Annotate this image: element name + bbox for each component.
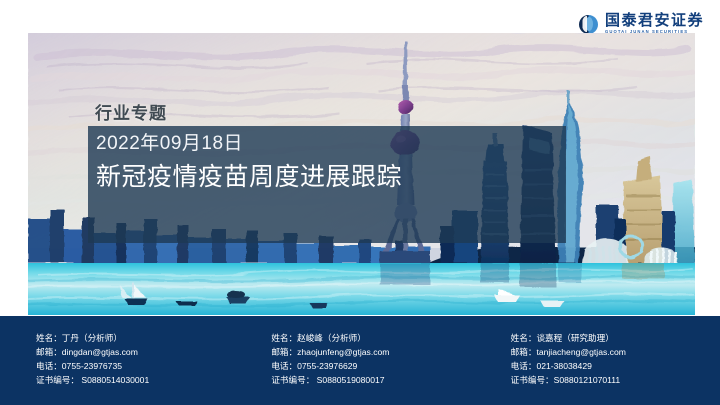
brand-name-cn: 国泰君安证券 bbox=[605, 13, 704, 28]
footer-bar: 姓名：丁丹（分析师） 邮箱：dingdan@gtjas.com 电话：0755-… bbox=[0, 316, 720, 405]
contact-phone: 电话：0755-23976629 bbox=[271, 360, 480, 374]
contact-block: 姓名：丁丹（分析师） 邮箱：dingdan@gtjas.com 电话：0755-… bbox=[0, 316, 245, 405]
contact-name: 姓名：谈嘉程（研究助理） bbox=[511, 332, 720, 346]
contact-email[interactable]: 邮箱：tanjiacheng@gtjas.com bbox=[511, 346, 720, 360]
contacts-row: 姓名：丁丹（分析师） 邮箱：dingdan@gtjas.com 电话：0755-… bbox=[0, 316, 720, 405]
contact-phone: 电话：0755-23976735 bbox=[36, 360, 245, 374]
cover-slide: 国泰君安证券 GUOTAI JUNAN SECURITIES bbox=[0, 0, 720, 405]
contact-license: 证书编号：S0880121070111 bbox=[511, 374, 720, 388]
title-block: 2022年09月18日 新冠疫情疫苗周度进展跟踪 bbox=[96, 132, 566, 193]
contact-email[interactable]: 邮箱：zhaojunfeng@gtjas.com bbox=[271, 346, 480, 360]
contact-name: 姓名：赵峻峰（分析师） bbox=[271, 332, 480, 346]
contact-phone: 电话：021-38038429 bbox=[511, 360, 720, 374]
document-title: 新冠疫情疫苗周度进展跟踪 bbox=[96, 161, 566, 194]
contact-name: 姓名：丁丹（分析师） bbox=[36, 332, 245, 346]
contact-license: 证书编号： S0880514030001 bbox=[36, 374, 245, 388]
document-date: 2022年09月18日 bbox=[96, 132, 566, 156]
contact-block: 姓名：赵峻峰（分析师） 邮箱：zhaojunfeng@gtjas.com 电话：… bbox=[245, 316, 480, 405]
contact-license: 证书编号： S0880519080017 bbox=[271, 374, 480, 388]
contact-email[interactable]: 邮箱：dingdan@gtjas.com bbox=[36, 346, 245, 360]
kicker-label: 行业专题 bbox=[95, 99, 167, 124]
guotai-junan-circle-logo-icon bbox=[579, 15, 598, 34]
brand-wordmark: 国泰君安证券 GUOTAI JUNAN SECURITIES bbox=[605, 13, 704, 34]
contact-block: 姓名：谈嘉程（研究助理） 邮箱：tanjiacheng@gtjas.com 电话… bbox=[481, 316, 720, 405]
